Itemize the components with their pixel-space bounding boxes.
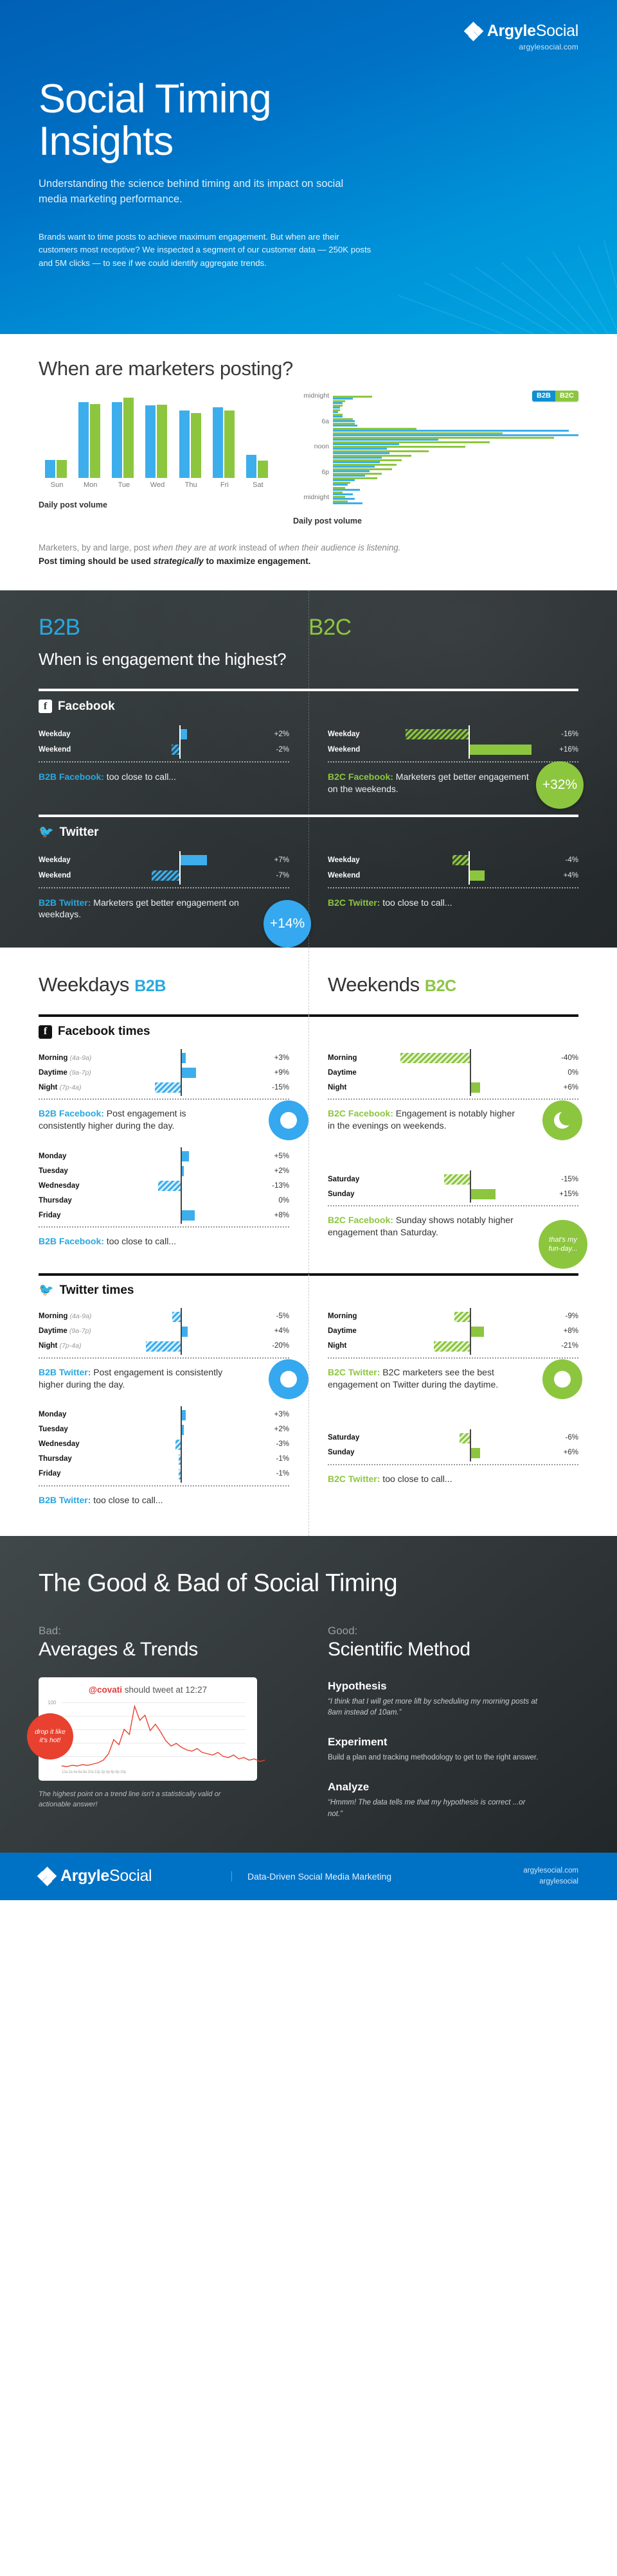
method-step-body: Build a plan and tracking methodology to…	[328, 1752, 540, 1764]
metric-label: Daytime (9a-7p)	[39, 1069, 103, 1077]
metric-row: Wednesday-13%	[39, 1178, 289, 1193]
hour-row	[333, 491, 578, 496]
day-axis-label: Wed	[145, 481, 169, 489]
trend-x-labels: 12a 2a 4a 6a 8a 10a 12p 2p 4p 6p 8p 10p	[62, 1770, 248, 1774]
hour-bar-b2b	[333, 402, 343, 404]
hour-axis-label: noon	[314, 443, 329, 450]
footer-logo[interactable]: ArgyleSocial	[39, 1867, 231, 1885]
moon-icon	[554, 1112, 571, 1129]
metric-label: Weekend	[328, 746, 389, 754]
metric-track	[392, 1080, 548, 1095]
facebook-days-b2b-key: B2B Facebook:	[39, 1236, 104, 1246]
metric-track	[100, 742, 258, 757]
metric-track	[392, 1172, 548, 1187]
method-step-heading: Hypothesis	[328, 1680, 578, 1693]
metric-row: Monday+5%	[39, 1149, 289, 1163]
bad-heading: Averages & Trends	[39, 1639, 289, 1661]
infographic-page: ArgyleSocial argylesocial.com Social Tim…	[0, 0, 617, 1900]
metric-bar	[470, 1082, 480, 1093]
hour-bar-b2b	[333, 407, 340, 409]
metric-row: Weekend-7%	[39, 868, 289, 883]
footer-url-2[interactable]: argylesocial	[523, 1876, 578, 1887]
metric-row: Friday+8%	[39, 1208, 289, 1222]
day-axis-label: Tue	[112, 481, 136, 489]
metric-track	[103, 1193, 258, 1208]
detail-left-tag: B2B	[134, 977, 166, 995]
footer-url-1[interactable]: argylesocial.com	[523, 1866, 578, 1876]
metric-track	[103, 1324, 258, 1339]
brand-name-bold: Argyle	[487, 22, 536, 40]
facebook-b2b-column: Weekday+2%Weekend-2% B2B Facebook: too c…	[39, 727, 289, 795]
metric-track	[103, 1050, 258, 1065]
metric-track	[392, 1445, 548, 1460]
hour-bar-b2b	[333, 498, 355, 500]
metric-row: Weekend+16%	[328, 742, 578, 757]
engagement-b2c-label: B2C	[308, 615, 578, 640]
scientific-method-steps: Hypothesis“I think that I will get more …	[328, 1680, 578, 1821]
metric-row: Morning-40%	[328, 1050, 578, 1065]
bar-b2c	[90, 404, 100, 478]
metric-row: Sunday+6%	[328, 1445, 578, 1460]
metric-bar	[469, 870, 485, 881]
metric-track	[100, 868, 258, 883]
note-em-2: when their audience is listening.	[279, 543, 401, 552]
day-axis-label: Fri	[213, 481, 237, 489]
metric-row: Weekday-16%	[328, 727, 578, 742]
metric-bar	[470, 1448, 480, 1458]
day-axis-label: Thu	[179, 481, 203, 489]
hour-row	[333, 437, 578, 441]
sun-icon	[280, 1112, 297, 1129]
metric-bar	[172, 1312, 181, 1322]
metric-track	[100, 852, 258, 868]
dotted-axis-rule	[39, 761, 289, 763]
bar-b2b	[213, 407, 223, 478]
metric-track	[103, 1422, 258, 1437]
argyle-diamond-icon	[39, 1868, 55, 1885]
metric-row: Saturday-6%	[328, 1431, 578, 1445]
metric-track	[103, 1452, 258, 1467]
hero-intro-paragraph: Brands want to time posts to achieve max…	[39, 231, 373, 270]
dotted-axis-rule	[328, 1098, 578, 1100]
day-axis-label: Mon	[78, 481, 102, 489]
metric-value: -1%	[258, 1470, 289, 1478]
facebook-times-b2b-key: B2B Facebook:	[39, 1108, 104, 1118]
hour-row	[333, 441, 578, 446]
metric-value: +3%	[258, 1054, 289, 1062]
metric-value: -7%	[258, 872, 289, 879]
twitter-days-b2b-text: too close to call...	[91, 1495, 163, 1505]
hour-bar-b2b	[333, 461, 380, 463]
method-step-body: “I think that I will get more lift by sc…	[328, 1697, 540, 1720]
detail-right-title-text: Weekends	[328, 973, 420, 996]
dotted-axis-rule	[39, 1357, 289, 1359]
metric-value: +8%	[258, 1212, 289, 1219]
metric-value: +2%	[258, 730, 289, 738]
brand-logo[interactable]: ArgyleSocial argylesocial.com	[465, 22, 578, 51]
hour-row	[333, 477, 578, 482]
metric-row: Wednesday-3%	[39, 1437, 289, 1452]
dotted-axis-rule	[39, 887, 289, 888]
metric-bar	[469, 745, 532, 755]
hot-badge: drop it like it's hot!	[27, 1713, 73, 1760]
hour-bar-b2b	[333, 457, 382, 459]
bar-b2c	[191, 413, 201, 478]
metric-track	[103, 1163, 258, 1178]
hour-row	[333, 405, 578, 409]
metric-value: -20%	[258, 1342, 289, 1350]
metric-track	[389, 727, 548, 742]
hour-bar-b2b	[333, 439, 438, 441]
metric-label: Sunday	[328, 1449, 392, 1456]
metric-track	[103, 1065, 258, 1080]
tweet-trend-plot: 10080604020	[48, 1700, 248, 1769]
metric-value: -13%	[258, 1182, 289, 1190]
metric-row: Night+6%	[328, 1080, 578, 1095]
metric-label: Morning (4a-9a)	[39, 1312, 103, 1320]
hour-row	[333, 409, 578, 414]
metric-row: Saturday-15%	[328, 1172, 578, 1187]
facebook-days-b2c-key: B2C Facebook:	[328, 1215, 393, 1225]
twitter-times-b2c-column: Morning-9%Daytime+8%Night-21% B2C Twitte…	[328, 1309, 578, 1506]
facebook-b2c-key: B2C Facebook:	[328, 772, 393, 782]
metric-value: -15%	[548, 1176, 578, 1183]
twitter-bird-icon: 🐦	[39, 1284, 54, 1296]
metric-value: -21%	[548, 1342, 578, 1350]
metric-label: Weekend	[39, 872, 100, 879]
zero-axis	[181, 1206, 182, 1224]
metric-track	[103, 1407, 258, 1422]
metric-track	[103, 1339, 258, 1354]
metric-label: Weekday	[328, 856, 389, 864]
hour-bar-b2b	[333, 398, 353, 400]
hour-bar-b2b	[333, 448, 387, 450]
metric-label: Friday	[39, 1470, 103, 1478]
funday-stamp: that's my fun-day...	[539, 1220, 587, 1269]
metric-row: Daytime+8%	[328, 1324, 578, 1339]
good-heading: Scientific Method	[328, 1639, 578, 1661]
hour-row	[333, 459, 578, 464]
metric-bar	[181, 1068, 196, 1078]
right-chart-caption: Daily post volume	[293, 516, 578, 525]
twitter-times-b2b-column: Morning (4a-9a)-5%Daytime (9a-7p)+4%Nigh…	[39, 1309, 289, 1506]
hour-row	[333, 468, 578, 473]
metric-bar	[470, 1327, 484, 1337]
hour-axis-labels: midnight6anoon6pmidnight	[293, 396, 333, 497]
metric-track	[392, 1309, 548, 1324]
hour-bar-b2b	[333, 484, 348, 486]
metric-label: Wednesday	[39, 1182, 103, 1190]
metric-bar	[400, 1053, 470, 1063]
metric-track	[392, 1050, 548, 1065]
dotted-axis-rule	[39, 1485, 289, 1486]
funday-stamp-text: that's my fun-day...	[544, 1235, 582, 1254]
hour-axis-label: 6a	[321, 418, 329, 425]
hour-bar-b2b	[333, 425, 357, 427]
bar-b2b	[112, 402, 122, 478]
hour-axis-label: midnight	[303, 493, 329, 501]
bar-b2c	[57, 460, 67, 478]
bad-column: Bad: Averages & Trends @covati should tw…	[39, 1625, 289, 1821]
metric-row: Thursday-1%	[39, 1452, 289, 1467]
posting-heading: When are marketers posting?	[39, 357, 578, 380]
metric-value: -16%	[548, 730, 578, 738]
twitter-title-text: Twitter	[60, 825, 99, 840]
hour-bar-b2b	[333, 466, 375, 468]
dotted-axis-rule	[328, 1205, 578, 1206]
day-axis-label: Sat	[246, 481, 270, 489]
moon-stamp-b2c	[542, 1100, 582, 1140]
metric-track	[392, 1187, 548, 1201]
trend-line	[62, 1700, 265, 1769]
good-bad-section: The Good & Bad of Social Timing Bad: Ave…	[0, 1536, 617, 1853]
hour-row	[333, 464, 578, 468]
hour-bar-b2b	[333, 502, 362, 504]
metric-value: +4%	[258, 1327, 289, 1335]
metric-track	[392, 1431, 548, 1445]
metric-bar	[181, 1151, 189, 1161]
hour-bars	[333, 396, 578, 505]
hour-row	[333, 482, 578, 486]
metric-value: +9%	[258, 1069, 289, 1077]
metric-label: Tuesday	[39, 1167, 103, 1175]
metric-label: Thursday	[39, 1455, 103, 1463]
metric-label: Daytime (9a-7p)	[39, 1327, 103, 1335]
metric-label: Friday	[39, 1212, 103, 1219]
metric-value: +2%	[258, 1425, 289, 1433]
facebook-icon: f	[39, 700, 52, 713]
metric-label: Night (7p-4a)	[39, 1342, 103, 1350]
metric-track	[103, 1437, 258, 1452]
facebook-days-b2b-text: too close to call...	[104, 1236, 176, 1246]
metric-value: -6%	[548, 1434, 578, 1442]
metric-track	[103, 1178, 258, 1193]
method-step-body: “Hmmm! The data tells me that my hypothe…	[328, 1797, 540, 1821]
bad-kicker: Bad:	[39, 1625, 289, 1637]
day-bar-group	[112, 398, 136, 478]
metric-label: Wednesday	[39, 1440, 103, 1448]
legend-b2b: B2B	[532, 391, 555, 401]
hot-badge-text: drop it like it's hot!	[31, 1728, 69, 1745]
note-bold-1: Post timing should be used	[39, 556, 154, 566]
zero-axis	[181, 1465, 182, 1483]
metric-label: Monday	[39, 1411, 103, 1418]
decorative-rays	[347, 193, 617, 334]
metric-label: Night (7p-4a)	[39, 1084, 103, 1091]
metric-value: +15%	[548, 1190, 578, 1198]
metric-bar	[158, 1181, 181, 1191]
facebook-times-b2b-insight: B2B Facebook: Post engagement is consist…	[39, 1107, 231, 1132]
metric-track	[103, 1309, 258, 1324]
hour-bar-b2b	[333, 470, 370, 472]
twitter-b2c-column: Weekday-4%Weekend+4% B2C Twitter: too cl…	[328, 852, 578, 921]
zero-axis	[470, 1079, 471, 1096]
metric-value: +3%	[258, 1411, 289, 1418]
hour-bar-b2b	[333, 493, 353, 495]
metric-row: Night-21%	[328, 1339, 578, 1354]
note-bold-2: to maximize engagement.	[204, 556, 311, 566]
day-bar-chart	[39, 396, 270, 478]
metric-track	[389, 742, 548, 757]
metric-value: +4%	[548, 872, 578, 879]
posting-note: Marketers, by and large, post when they …	[39, 541, 578, 569]
brand-url[interactable]: argylesocial.com	[465, 42, 578, 51]
bar-b2c	[157, 405, 167, 478]
metric-row: Night (7p-4a)-15%	[39, 1080, 289, 1095]
dotted-axis-rule	[328, 1357, 578, 1359]
engagement-b2b-label: B2B	[39, 615, 308, 640]
hour-row	[333, 500, 578, 505]
hour-row	[333, 496, 578, 500]
metric-bar	[460, 1433, 470, 1443]
day-bar-group	[179, 410, 203, 478]
hour-bar-b2b	[333, 475, 365, 477]
metric-label: Weekday	[39, 730, 100, 738]
metric-value: +2%	[258, 1167, 289, 1175]
method-step-heading: Experiment	[328, 1736, 578, 1749]
metric-track	[392, 1339, 548, 1354]
bad-note: The highest point on a trend line isn't …	[39, 1790, 251, 1810]
bar-b2c	[123, 398, 134, 478]
facebook-b2c-insight: B2C Facebook: Marketers get better engag…	[328, 771, 533, 795]
metric-track	[100, 727, 258, 742]
zero-axis	[179, 867, 181, 885]
facebook-b2b-insight: B2B Facebook: too close to call...	[39, 771, 244, 783]
facebook-days-b2b-insight: B2B Facebook: too close to call...	[39, 1235, 231, 1248]
metric-label: Night	[328, 1084, 392, 1091]
twitter-days-b2c-key: B2C Twitter:	[328, 1474, 380, 1484]
facebook-uplift-stamp: +32%	[536, 761, 584, 809]
twitter-b2b-key: B2B Twitter:	[39, 897, 91, 908]
hour-bar-b2b	[333, 430, 569, 432]
footer-urls[interactable]: argylesocial.com argylesocial	[523, 1866, 578, 1888]
metric-bar	[155, 1082, 181, 1093]
metric-bar	[152, 870, 179, 881]
metric-row: Friday-1%	[39, 1467, 289, 1481]
metric-bar	[172, 745, 179, 755]
hour-row	[333, 473, 578, 477]
metric-bar	[454, 1312, 470, 1322]
metric-bar	[452, 855, 469, 865]
metric-value: -1%	[258, 1455, 289, 1463]
facebook-b2b-key: B2B Facebook:	[39, 772, 104, 782]
argyle-diamond-icon	[465, 23, 482, 40]
facebook-icon: f	[39, 1025, 52, 1039]
metric-value: -40%	[548, 1054, 578, 1062]
twitter-b2c-text: too close to call...	[380, 897, 452, 908]
detail-left-title: Weekdays B2B	[39, 973, 289, 996]
note-em-1: when they are at work	[152, 543, 237, 552]
metric-row: Morning-9%	[328, 1309, 578, 1324]
day-bar-group	[246, 455, 270, 478]
brand-name-light: Social	[536, 22, 578, 40]
zero-axis	[469, 741, 470, 759]
metric-label: Saturday	[328, 1176, 392, 1183]
twitter-days-b2c-text: too close to call...	[380, 1474, 452, 1484]
facebook-times-b2b-column: Morning (4a-9a)+3%Daytime (9a-7p)+9%Nigh…	[39, 1050, 289, 1248]
day-axis-label: Sun	[45, 481, 69, 489]
zero-axis	[470, 1185, 471, 1203]
metric-label: Weekday	[328, 730, 389, 738]
dotted-axis-rule	[328, 887, 578, 888]
metric-value: 0%	[258, 1197, 289, 1204]
detail-left-title-text: Weekdays	[39, 973, 129, 996]
metric-row: Sunday+15%	[328, 1187, 578, 1201]
trend-y-label: 100	[48, 1700, 56, 1706]
hour-bar-b2b	[333, 452, 389, 454]
metric-label: Morning	[328, 1312, 392, 1320]
hour-row	[333, 414, 578, 418]
metric-track	[103, 1467, 258, 1481]
sun-stamp-b2b	[269, 1100, 308, 1140]
metric-label: Sunday	[328, 1190, 392, 1198]
hour-row	[333, 428, 578, 432]
metric-label: Monday	[39, 1152, 103, 1160]
good-kicker: Good:	[328, 1625, 578, 1637]
metric-row: Daytime (9a-7p)+4%	[39, 1324, 289, 1339]
legend-b2c: B2C	[555, 391, 578, 401]
engagement-section: B2B B2C When is engagement the highest? …	[0, 590, 617, 948]
day-bar-group	[213, 407, 237, 478]
metric-value: -15%	[258, 1084, 289, 1091]
zero-axis	[181, 1079, 182, 1096]
zero-axis	[470, 1337, 471, 1355]
metric-value: +6%	[548, 1084, 578, 1091]
zero-axis	[181, 1337, 182, 1355]
facebook-b2b-text: too close to call...	[104, 772, 176, 782]
footer-tagline: Data-Driven Social Media Marketing	[231, 1871, 523, 1882]
metric-label: Saturday	[328, 1434, 392, 1442]
twitter-b2c-key: B2C Twitter:	[328, 897, 380, 908]
hero-title-line-2: Insights	[39, 119, 173, 164]
metric-row: Daytime (9a-7p)+9%	[39, 1065, 289, 1080]
facebook-times-title-text: Facebook times	[58, 1025, 150, 1039]
note-plain-2: instead of	[237, 543, 279, 552]
good-column: Good: Scientific Method Hypothesis“I thi…	[328, 1625, 578, 1821]
twitter-times-b2b-key: B2B Twitter:	[39, 1367, 91, 1377]
twitter-days-b2c-insight: B2C Twitter: too close to call...	[328, 1473, 521, 1485]
metric-bar	[146, 1341, 181, 1352]
metric-track	[389, 868, 548, 883]
facebook-uplift-value: +32%	[542, 777, 577, 793]
metric-track	[392, 1065, 548, 1080]
sun-stamp-b2b-twitter	[269, 1359, 308, 1399]
facebook-days-b2c-insight: B2C Facebook: Sunday shows notably highe…	[328, 1214, 521, 1239]
hour-bar-b2b	[333, 479, 355, 481]
twitter-days-b2b-insight: B2B Twitter: too close to call...	[39, 1494, 231, 1506]
metric-bar	[179, 855, 207, 865]
hour-row	[333, 446, 578, 450]
metric-track	[103, 1208, 258, 1222]
hour-bar-b2b	[333, 434, 578, 436]
tweet-card-title: @covati should tweet at 12:27	[48, 1685, 248, 1695]
detail-section: Weekdays B2B Weekends B2C f Facebook tim…	[0, 948, 617, 1535]
hour-bar-b2b	[333, 411, 338, 413]
twitter-uplift-value: +14%	[270, 916, 305, 931]
twitter-b2b-insight: B2B Twitter: Marketers get better engage…	[39, 897, 244, 921]
tweet-title-rest: should tweet at 12:27	[122, 1685, 207, 1695]
dotted-axis-rule	[39, 1226, 289, 1228]
metric-bar	[175, 1440, 181, 1450]
zero-axis	[179, 741, 181, 759]
twitter-times-b2b-insight: B2B Twitter: Post engagement is consiste…	[39, 1366, 231, 1391]
hour-bar-b2b	[333, 420, 355, 422]
metric-row: Tuesday+2%	[39, 1422, 289, 1437]
metric-bar	[434, 1341, 470, 1352]
good-bad-title: The Good & Bad of Social Timing	[39, 1569, 578, 1598]
footer-brand-bold: Argyle	[60, 1867, 109, 1885]
metric-track	[103, 1149, 258, 1163]
